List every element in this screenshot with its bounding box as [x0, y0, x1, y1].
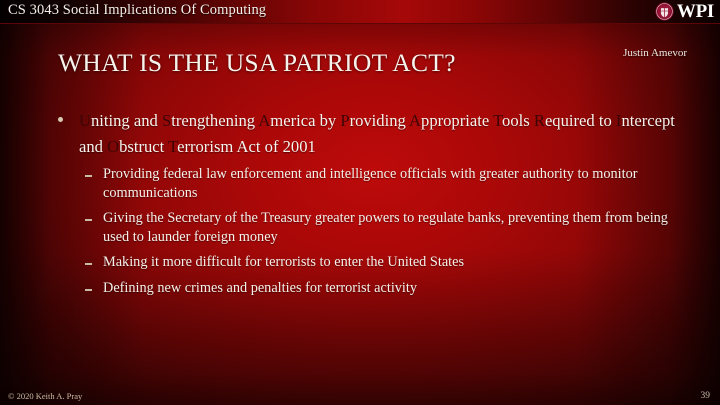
- bullet-text-run: niting and: [91, 111, 162, 130]
- dash-icon: [85, 289, 92, 291]
- dash-icon: [85, 219, 92, 221]
- acronym-letter: O: [107, 137, 119, 156]
- acronym-letter: U: [79, 111, 91, 130]
- bullet-text-run: trengthening: [171, 111, 258, 130]
- sub-bullet: Providing federal law enforcement and in…: [85, 165, 675, 202]
- footer-page-number: 39: [701, 391, 711, 401]
- page-title: WHAT IS THE USA PATRIOT ACT?: [58, 48, 456, 78]
- author-name: Justin Amevor: [623, 47, 687, 59]
- acronym-letter: S: [162, 111, 171, 130]
- acronym-letter: T: [168, 137, 177, 156]
- sub-bullet-text: Making it more difficult for terrorists …: [103, 253, 675, 272]
- slide-header-bar: CS 3043 Social Implications Of Computing…: [0, 0, 720, 24]
- bullet-text-run: ools: [502, 111, 534, 130]
- wpi-wordmark: WPI: [677, 2, 714, 21]
- wpi-seal-icon: [655, 2, 674, 21]
- sub-bullet: Defining new crimes and penalties for te…: [85, 279, 675, 298]
- sub-bullet-text: Providing federal law enforcement and in…: [103, 165, 675, 202]
- bullet-text-run: roviding: [350, 111, 409, 130]
- slide-body: Uniting and Strengthening America by Pro…: [55, 108, 675, 304]
- bullet-text-run: merica by: [270, 111, 340, 130]
- acronym-letter: A: [258, 111, 270, 130]
- sub-bullet-text: Giving the Secretary of the Treasury gre…: [103, 209, 675, 246]
- bullet-text-run: equired to: [545, 111, 616, 130]
- footer-copyright: © 2020 Keith A. Pray: [8, 391, 82, 401]
- sub-bullet: Making it more difficult for terrorists …: [85, 253, 675, 272]
- acronym-letter: R: [534, 111, 545, 130]
- main-bullet-text: Uniting and Strengthening America by Pro…: [79, 108, 675, 159]
- bullet-text-run: bstruct: [119, 137, 168, 156]
- bullet-dot-icon: [58, 117, 63, 122]
- bullet-text-run: errorism Act of 2001: [177, 137, 316, 156]
- course-title: CS 3043 Social Implications Of Computing: [8, 2, 266, 19]
- sub-bullet-list: Providing federal law enforcement and in…: [85, 165, 675, 297]
- acronym-letter: P: [340, 111, 349, 130]
- wpi-logo: WPI: [655, 1, 714, 22]
- main-bullet: Uniting and Strengthening America by Pro…: [55, 108, 675, 159]
- presentation-slide: CS 3043 Social Implications Of Computing…: [0, 0, 720, 405]
- sub-bullet-text: Defining new crimes and penalties for te…: [103, 279, 675, 298]
- dash-icon: [85, 175, 92, 177]
- dash-icon: [85, 263, 92, 265]
- acronym-letter: T: [493, 111, 502, 130]
- bullet-text-run: ppropriate: [421, 111, 493, 130]
- acronym-letter: A: [409, 111, 421, 130]
- sub-bullet: Giving the Secretary of the Treasury gre…: [85, 209, 675, 246]
